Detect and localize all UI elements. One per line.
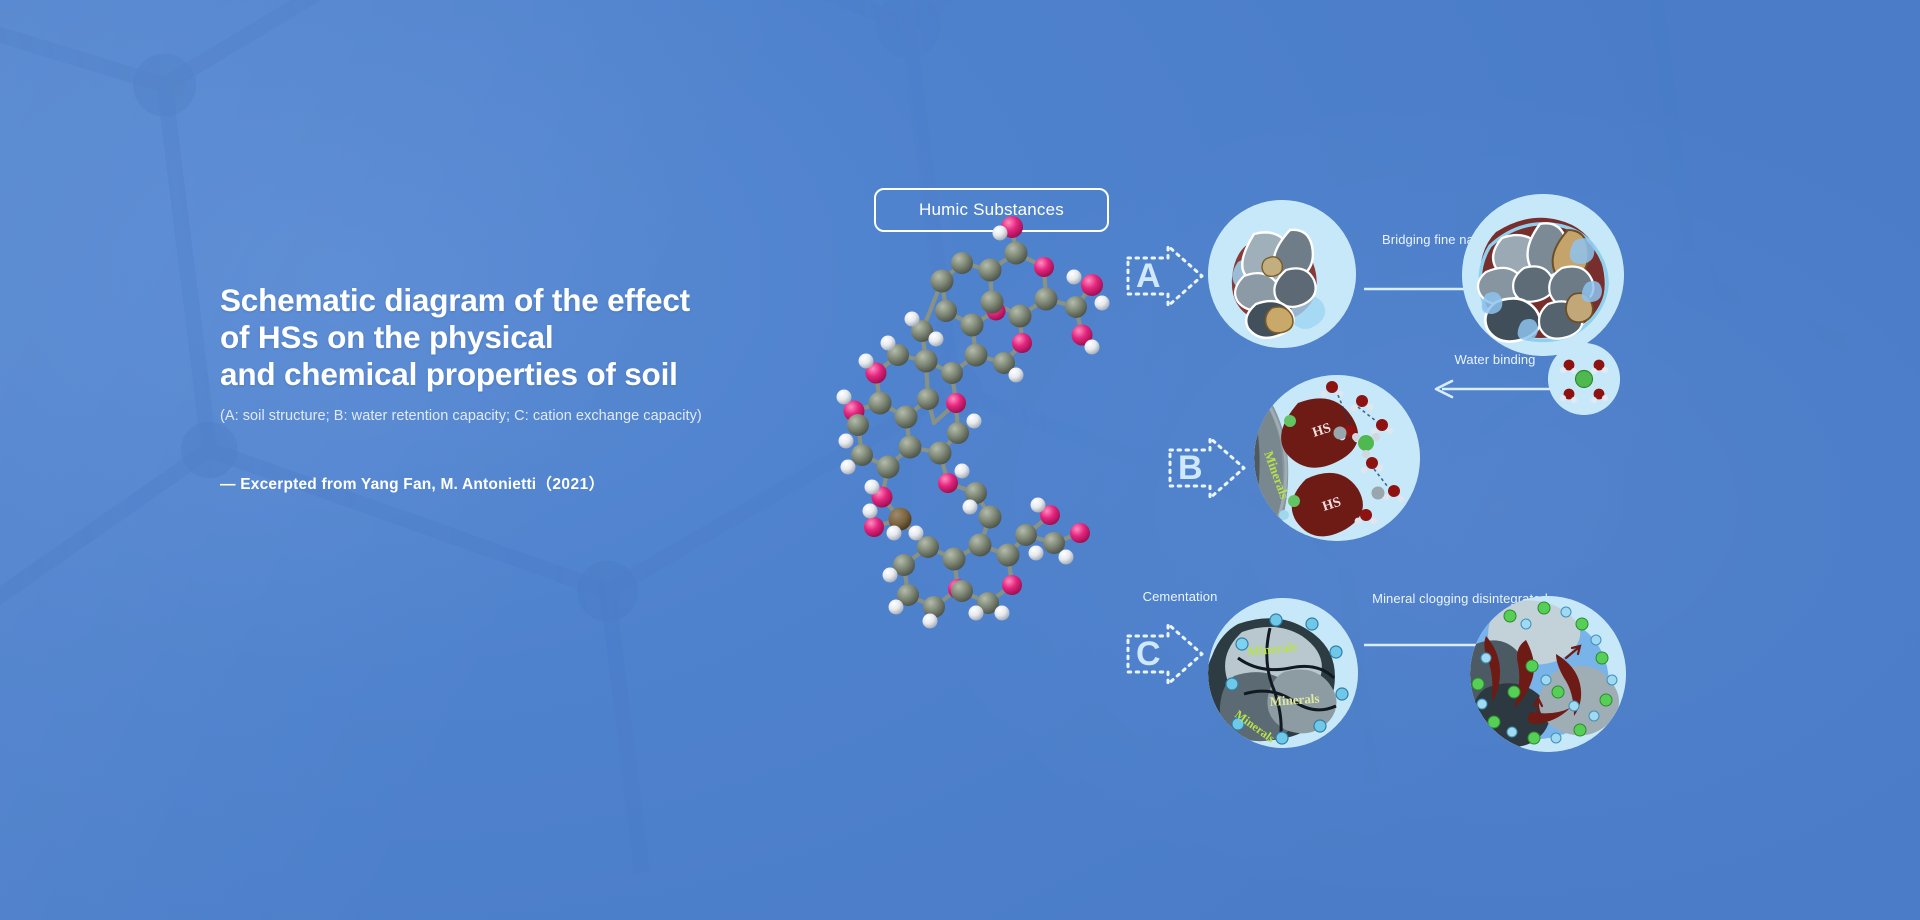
page-title: Schematic diagram of the effect of HSs o…: [220, 282, 840, 393]
step-letter-b-text: B: [1178, 451, 1203, 485]
flow-caption-b-text: Water binding: [1454, 352, 1535, 367]
soil-macroaggregate-circle[interactable]: [1462, 194, 1624, 356]
flow-arrow-b: [1428, 378, 1560, 400]
headline-block: Schematic diagram of the effect of HSs o…: [220, 282, 840, 494]
attribution-line: — Excerpted from Yang Fan, M. Antonietti…: [220, 472, 840, 494]
humic-substance-molecule: [830, 215, 1160, 635]
title-line-2: of HSs on the physical: [220, 319, 840, 356]
disintegrated-mineral-aggregate-circle[interactable]: [1470, 596, 1626, 752]
step-letter-c-text: C: [1136, 637, 1161, 671]
pre-caption-c: Cementation: [1120, 589, 1240, 606]
page-subtitle: (A: soil structure; B: water retention c…: [220, 406, 840, 426]
soil-microaggregate-circle[interactable]: [1208, 200, 1356, 348]
step-letter-b: B: [1166, 434, 1248, 502]
step-letter-a-text: A: [1136, 259, 1161, 293]
hydrated-cation-circle[interactable]: [1548, 343, 1620, 415]
hs-mineral-water-complex-circle[interactable]: HS HS Minerals: [1254, 375, 1420, 541]
cemented-mineral-aggregate-circle[interactable]: Minerals Minerals Minerals: [1208, 598, 1358, 748]
step-letter-c: C: [1124, 620, 1206, 688]
poster-canvas: Schematic diagram of the effect of HSs o…: [0, 0, 1920, 920]
pre-caption-c-text: Cementation: [1143, 589, 1218, 604]
attribution-year: （2021）: [536, 476, 604, 493]
title-line-1: Schematic diagram of the effect: [220, 282, 840, 319]
flow-caption-b: Water binding: [1425, 352, 1565, 369]
step-letter-a: A: [1124, 242, 1206, 310]
title-line-3: and chemical properties of soil: [220, 356, 840, 393]
attribution-text: — Excerpted from Yang Fan, M. Antonietti: [220, 476, 536, 493]
